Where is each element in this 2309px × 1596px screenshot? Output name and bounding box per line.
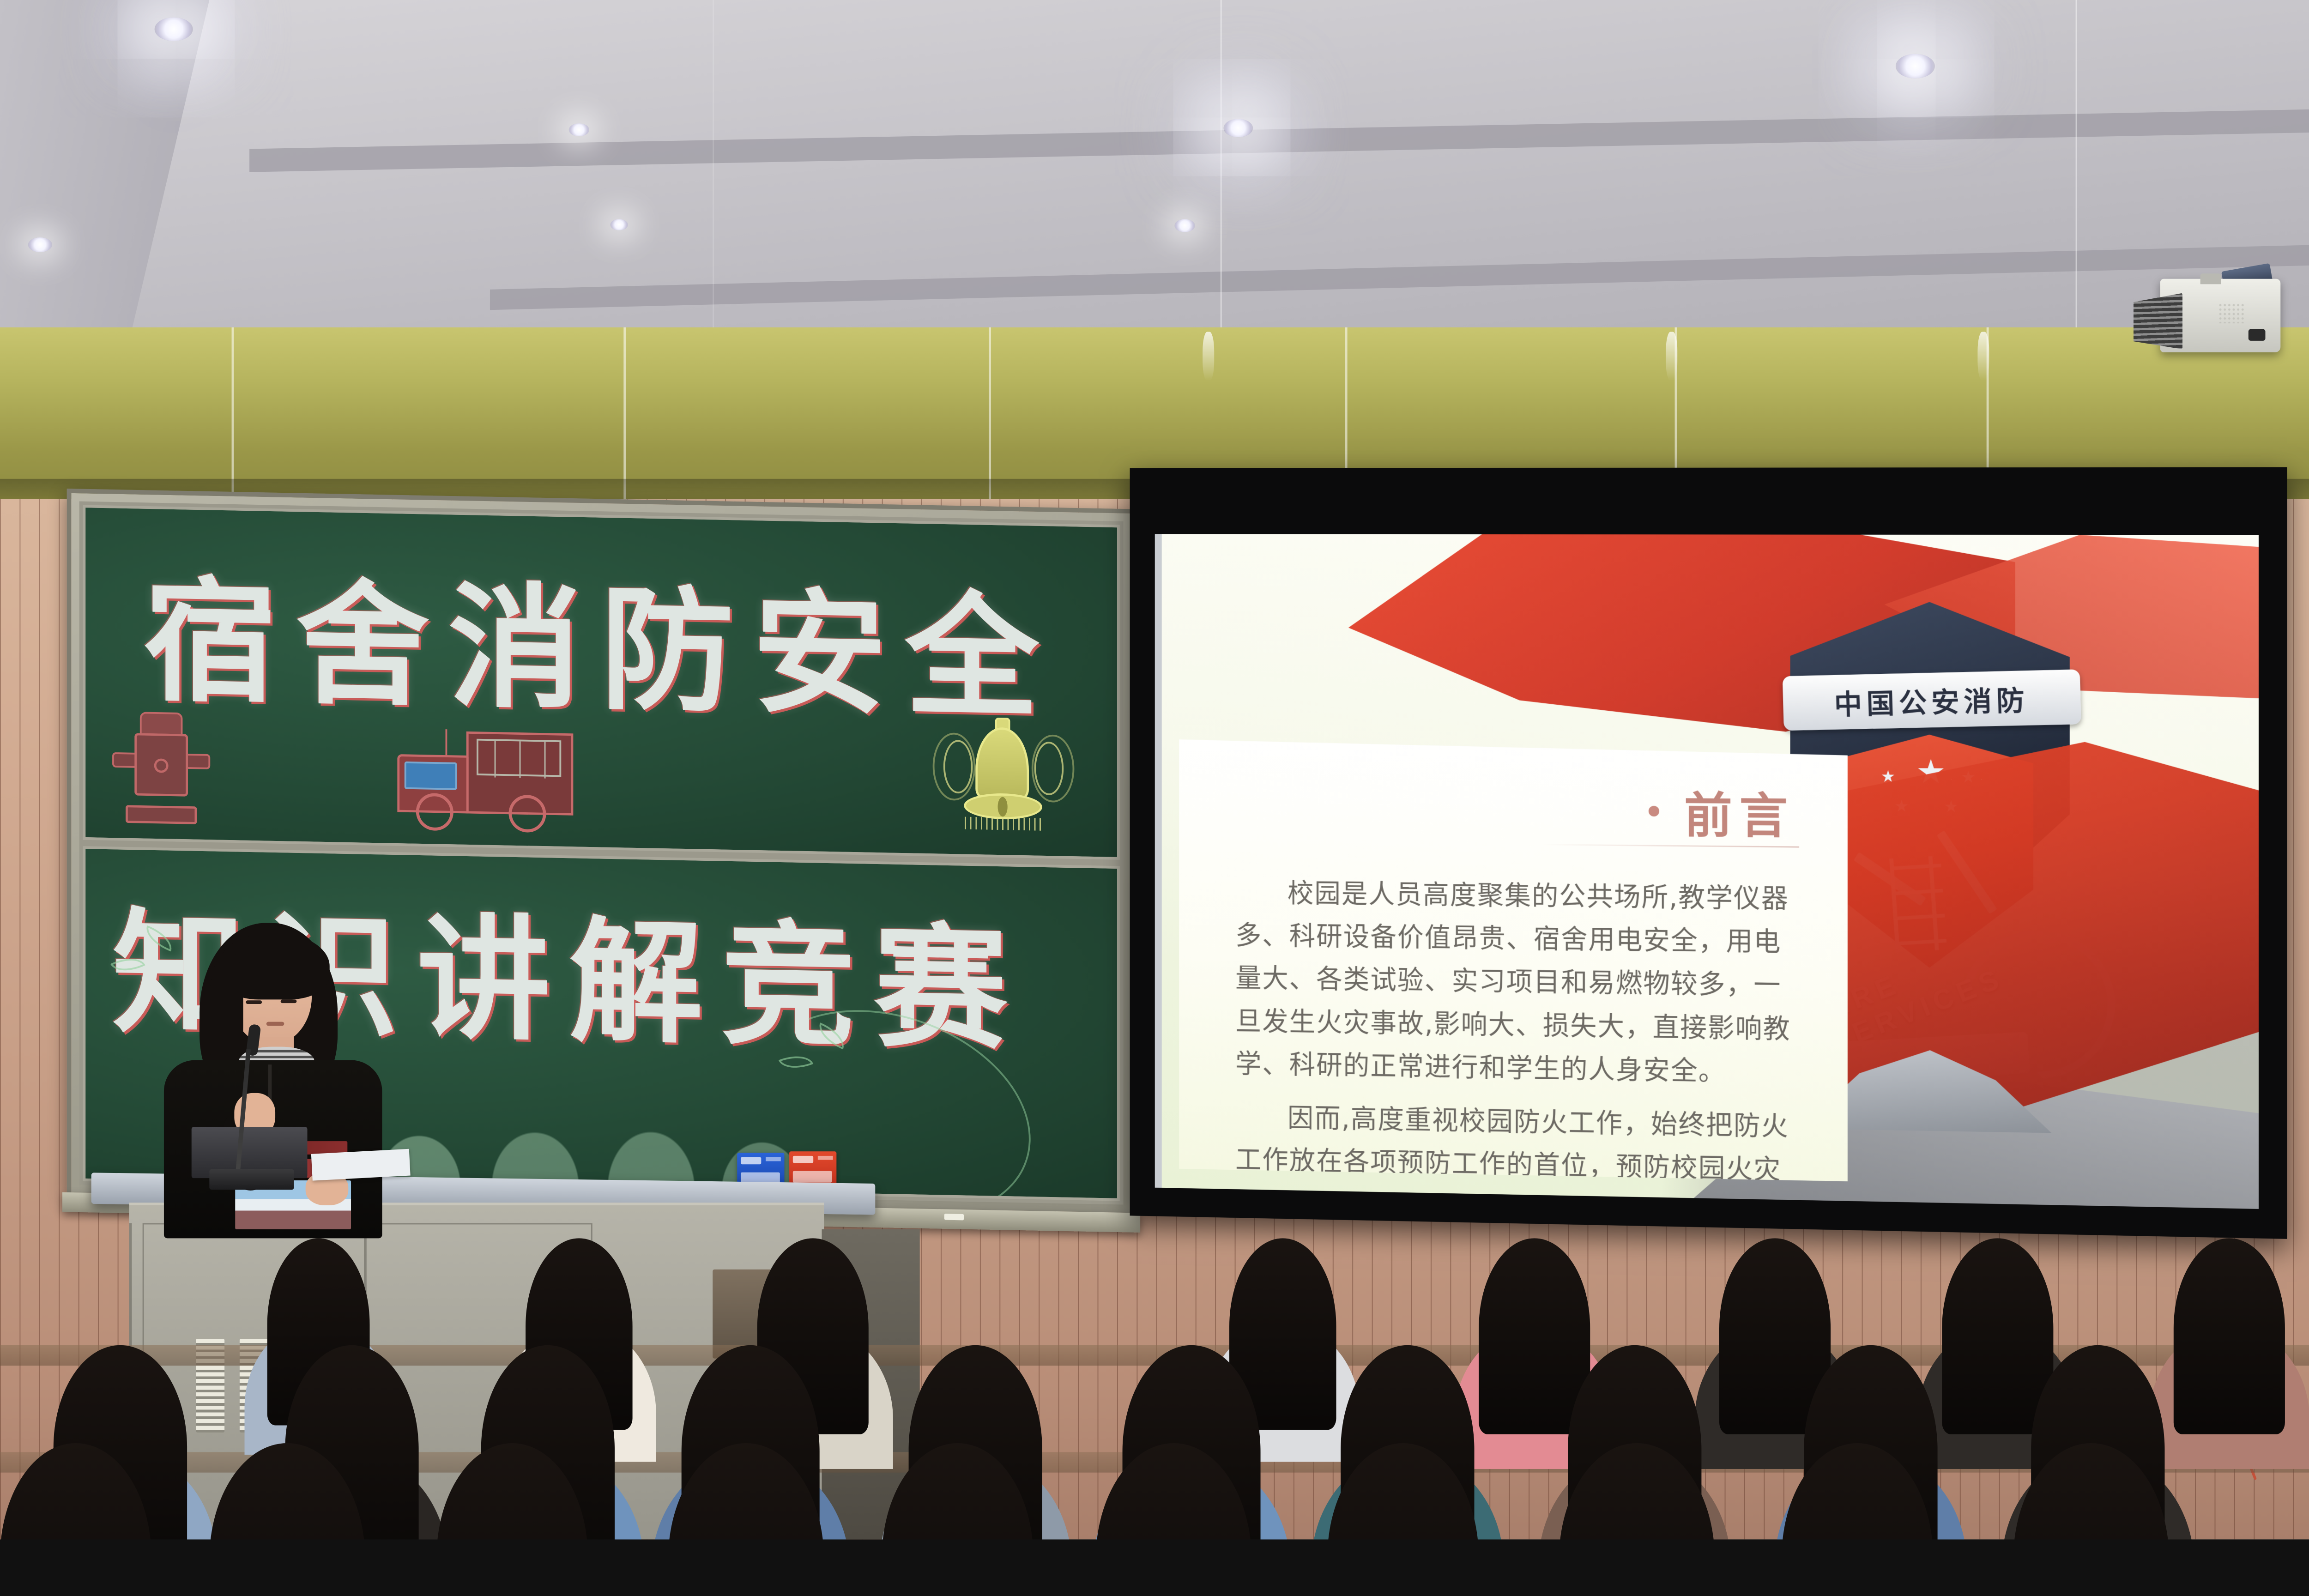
presenter-eye: [281, 999, 297, 1003]
ceiling-beam: [490, 245, 2309, 310]
audience: [0, 1211, 2309, 1539]
projector-grille: [2218, 303, 2244, 323]
projected-slide: 中国公安消防 ★ ★ ★ ★ ★ FIRE SERVICES: [1155, 534, 2259, 1209]
ceiling-edge-panel: [0, 0, 209, 339]
downlight-5-icon: [1174, 219, 1195, 232]
presenter-eye: [246, 1000, 262, 1004]
audience-person: [436, 1443, 588, 1539]
audience-person: [0, 1443, 151, 1539]
audience-person-head: [1096, 1443, 1252, 1539]
projector-knob: [2200, 273, 2221, 284]
lecture-hall-scene: 宿舍消防安全: [0, 0, 2309, 1539]
audience-person-hair: [882, 1443, 1034, 1539]
audience-person-head: [2174, 1238, 2285, 1434]
audience-person-head: [882, 1443, 1034, 1539]
audience-person-hair: [1782, 1443, 1933, 1539]
audience-person-hair: [0, 1443, 151, 1539]
ceiling-seam: [1221, 0, 1222, 339]
slide-paragraph-1: 校园是人员高度聚集的公共场所,教学仪器多、科研设备价值昂贵、宿舍用电安全，用电量…: [1235, 872, 1804, 1095]
presenter-mouth: [266, 1022, 284, 1026]
audience-person-head: [1782, 1443, 1933, 1539]
bullet-icon: [1649, 806, 1659, 816]
audience-person-head: [668, 1443, 824, 1539]
audience-person-head: [1559, 1443, 1715, 1539]
audience-person-hair: [436, 1443, 588, 1539]
projector-lens: [2134, 293, 2182, 350]
alarm-bell-drawing: [939, 707, 1068, 838]
audience-person: [1559, 1443, 1715, 1539]
downlight-6-icon: [1896, 54, 1935, 79]
slide-body: 校园是人员高度聚集的公共场所,教学仪器多、科研设备价值昂贵、宿舍用电安全，用电量…: [1235, 872, 1804, 1209]
audience-person: [1782, 1443, 1933, 1539]
downlight-1-icon: [155, 18, 193, 41]
presenter-notes-paper[interactable]: [311, 1149, 411, 1181]
audience-person: [209, 1443, 365, 1539]
audience-person-hair: [1096, 1443, 1252, 1539]
audience-person-head: [209, 1443, 365, 1539]
downlight-7-icon: [610, 219, 628, 230]
slide-title: 前言: [1684, 777, 1795, 847]
audience-person-head: [2013, 1443, 2170, 1539]
fire-hydrant-drawing: [117, 711, 206, 824]
slide-title-row: 前言: [1649, 776, 1795, 847]
ceiling-beam: [249, 109, 2309, 172]
audience-person-head: [436, 1443, 588, 1539]
audience-person-hair: [1327, 1443, 1479, 1539]
audience-person: [2013, 1443, 2170, 1539]
audience-person-hair: [209, 1443, 365, 1539]
emblem-banner-text: 中国公安消防: [1834, 678, 2030, 723]
audience-person: [882, 1443, 1034, 1539]
audience-person-hair: [2013, 1443, 2170, 1539]
downlight-2-icon: [569, 123, 589, 136]
wall-gloss: [1666, 332, 1677, 381]
audience-person: [1327, 1443, 1479, 1539]
wall-gloss: [1977, 332, 1989, 381]
projector-port: [2249, 329, 2266, 341]
microphone-base[interactable]: [209, 1169, 294, 1190]
emblem-banner: 中国公安消防: [1783, 669, 2081, 731]
wall-gloss: [1203, 332, 1214, 381]
ceiling: [0, 0, 2309, 339]
ceiling-projector: [2134, 267, 2280, 370]
audience-person-hair: [668, 1443, 824, 1539]
ladder-drawing: [477, 739, 561, 777]
audience-person-head: [1327, 1443, 1479, 1539]
slide-text-panel: 前言 校园是人员高度聚集的公共场所,教学仪器多、科研设备价值昂贵、宿舍用电安全，…: [1179, 739, 1848, 1181]
downlight-3-icon: [28, 237, 52, 252]
audience-person-head: [0, 1443, 151, 1539]
downlight-4-icon: [1223, 119, 1253, 138]
audience-person: [668, 1443, 824, 1539]
audience-person-hair: [1559, 1443, 1715, 1539]
projection-screen: 中国公安消防 ★ ★ ★ ★ ★ FIRE SERVICES: [1130, 467, 2287, 1239]
ceiling-seam: [713, 0, 714, 339]
audience-person: [2174, 1238, 2285, 1496]
blackboard-panel-top: 宿舍消防安全: [83, 505, 1119, 859]
audience-person: [1096, 1443, 1252, 1539]
audience-person-hair: [2174, 1238, 2285, 1434]
fire-truck-drawing: [397, 705, 606, 834]
ceiling-seam: [2076, 0, 2077, 339]
